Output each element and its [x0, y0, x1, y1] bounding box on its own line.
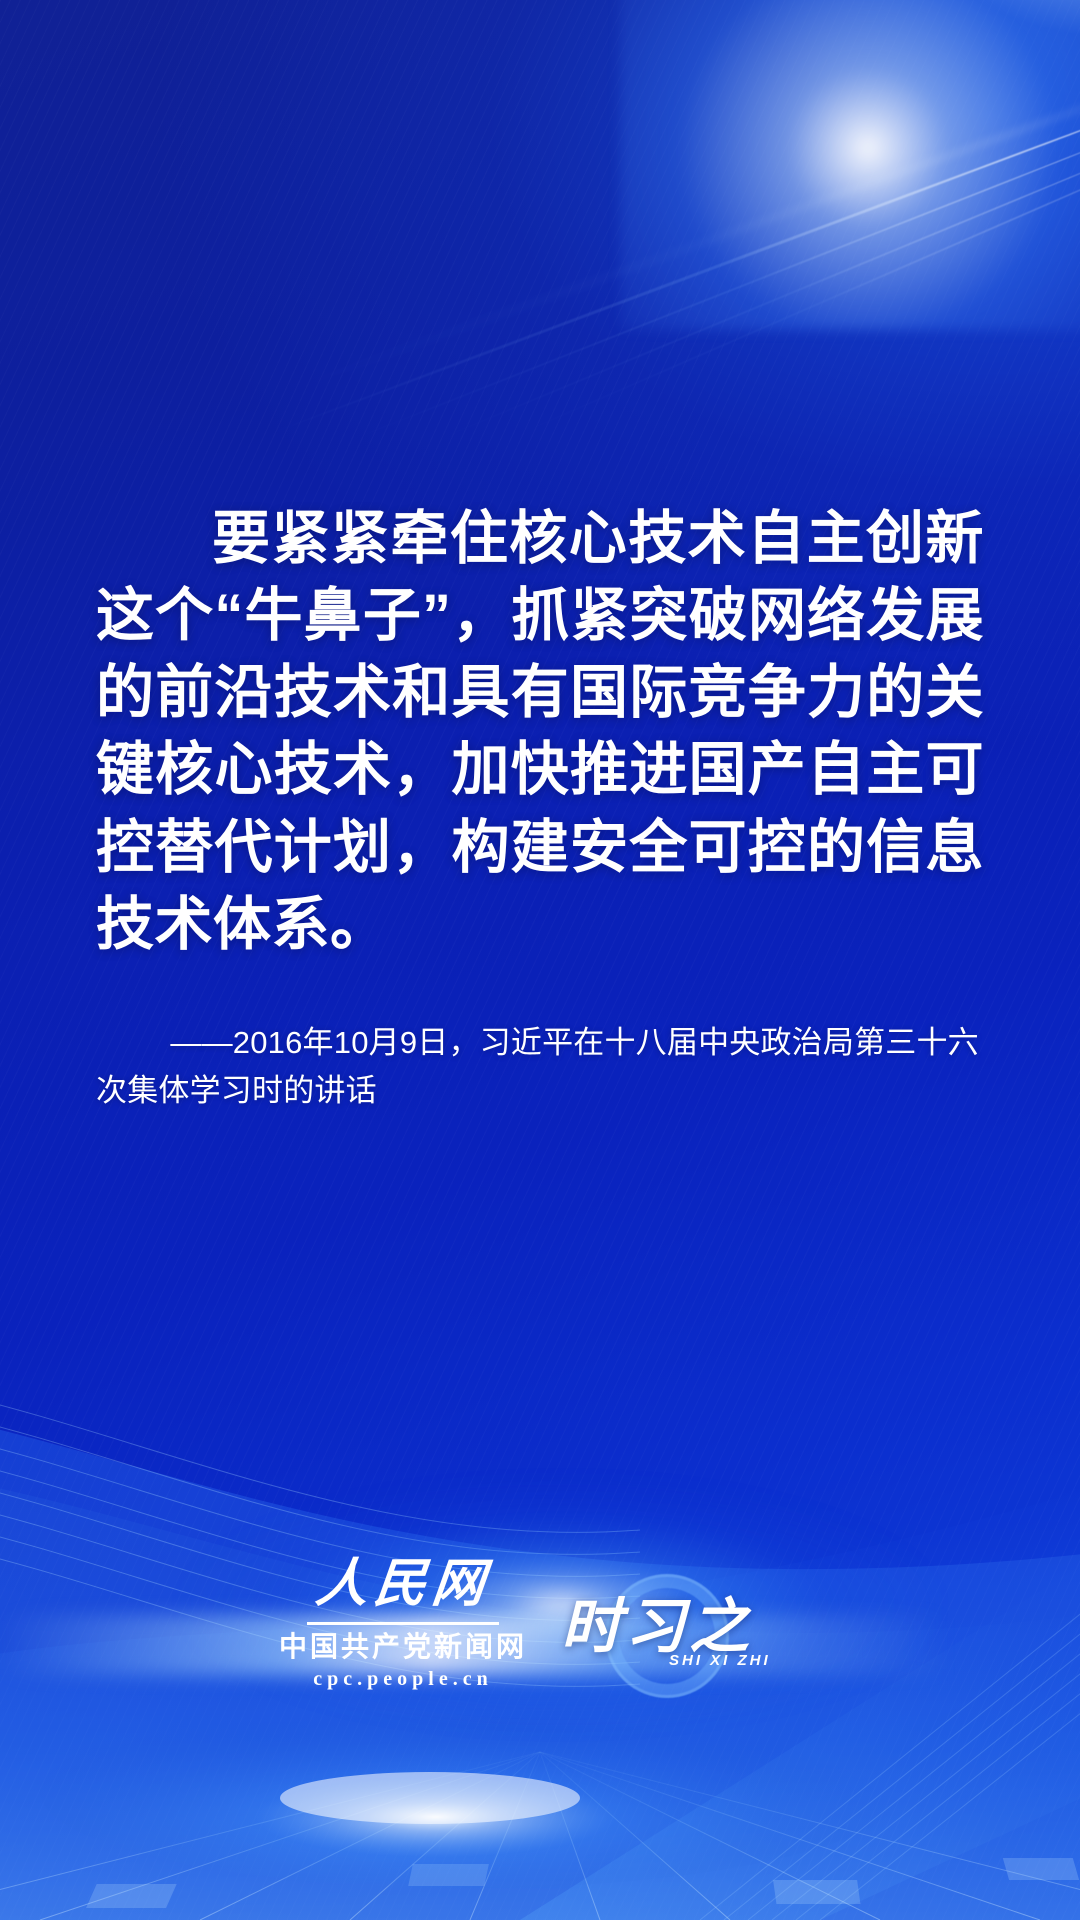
people-logo-divider [307, 1622, 499, 1625]
people-daily-logo[interactable]: 人民网 中国共产党新闻网 cpc.people.cn [279, 1558, 527, 1691]
people-logo-brand: 人民网 [313, 1558, 493, 1613]
poster-canvas: 要紧紧牵住核心技术自主创新这个“牛鼻子”，抓紧突破网络发展的前沿技术和具有国际竞… [0, 0, 1080, 1920]
shixizhi-pinyin: SHI XI ZHI [669, 1652, 771, 1669]
people-logo-url: cpc.people.cn [313, 1668, 492, 1691]
quote-text: 要紧紧牵住核心技术自主创新这个“牛鼻子”，抓紧突破网络发展的前沿技术和具有国际竞… [96, 500, 984, 963]
logo-row: 人民网 中国共产党新闻网 cpc.people.cn 时习之 SHI XI ZH… [0, 1558, 1080, 1710]
poster-content: 要紧紧牵住核心技术自主创新这个“牛鼻子”，抓紧突破网络发展的前沿技术和具有国际竞… [0, 0, 1080, 1115]
quote-attribution: ——2016年10月9日，习近平在十八届中央政治局第三十六次集体学习时的讲话 [96, 1019, 984, 1115]
people-logo-subtitle: 中国共产党新闻网 [279, 1632, 527, 1663]
shixizhi-logo[interactable]: 时习之 SHI XI ZHI [551, 1560, 801, 1710]
